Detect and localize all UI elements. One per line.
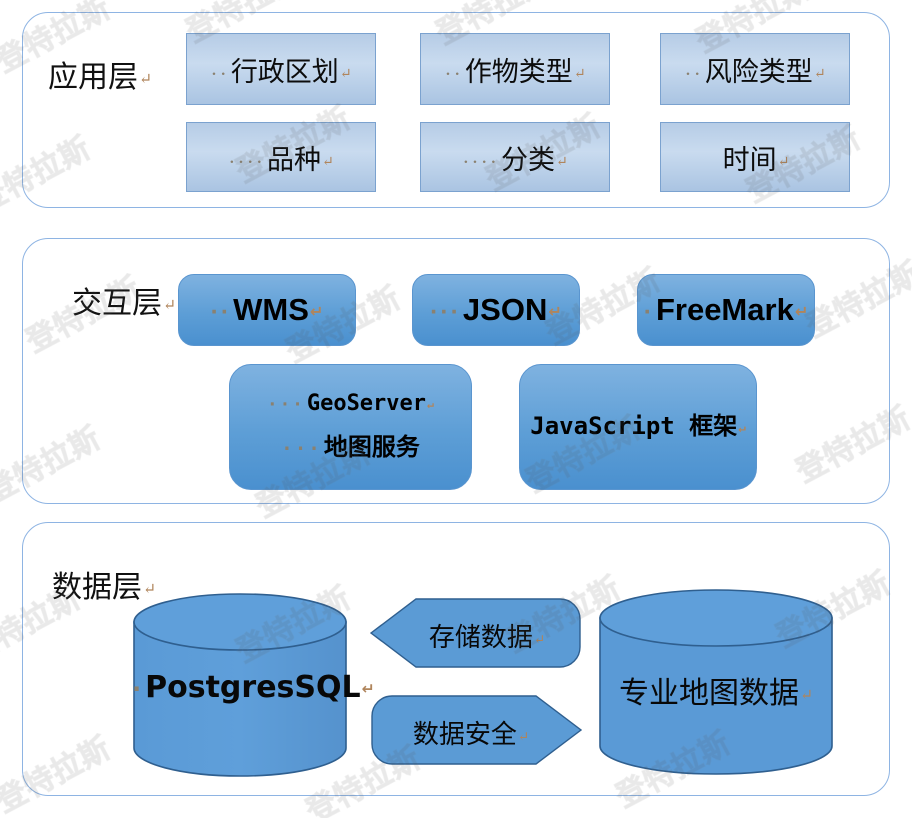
- arrow-data-security[interactable]: 数据安全↵: [370, 694, 582, 766]
- service-line: ···GeoServer↵: [267, 383, 434, 425]
- app-item-label: ····分类↵: [462, 138, 568, 177]
- app-item-administrative-division[interactable]: ··行政区划↵: [186, 33, 376, 105]
- service-geoserver-map-service[interactable]: ···GeoServer↵ ···地图服务: [229, 364, 472, 490]
- app-item-text: 时间: [723, 145, 777, 175]
- pilcrow-mark: ↵: [534, 632, 545, 647]
- app-item-text: 分类: [501, 145, 555, 175]
- app-item-label: ··风险类型↵: [684, 50, 825, 89]
- pilcrow-mark: ↵: [322, 154, 334, 170]
- architecture-diagram: 登特拉斯 登特拉斯 登特拉斯 登特拉斯 登特拉斯 登特拉斯 登特拉斯 登特拉斯 …: [0, 0, 912, 818]
- datastore-text: 专业地图数据: [619, 677, 799, 710]
- arrow-text: 数据安全: [413, 720, 517, 749]
- app-item-text: 作物类型: [465, 57, 573, 87]
- app-item-label: 时间↵: [721, 138, 790, 177]
- pilcrow-mark: ↵: [800, 687, 813, 704]
- interaction-layer-label: 交互层↵: [72, 278, 176, 322]
- datastore-label: 专业地图数据↵: [598, 668, 834, 712]
- leading-dots: ··: [444, 62, 462, 86]
- pilcrow-mark: ↵: [340, 66, 352, 82]
- service-javascript-framework[interactable]: JavaScript 框架↵: [519, 364, 757, 490]
- leading-dots: ·: [644, 299, 654, 326]
- service-wms[interactable]: ··WMS↵: [178, 274, 356, 346]
- service-text: GeoServer: [307, 391, 426, 416]
- service-json[interactable]: ···JSON↵: [412, 274, 580, 346]
- service-freemark[interactable]: ·FreeMark↵: [637, 274, 815, 346]
- pilcrow-mark: ↵: [814, 66, 826, 82]
- pilcrow-mark: ↵: [556, 154, 568, 170]
- leading-dots: ····: [462, 150, 499, 174]
- datastore-label: ·PostgresSQL↵: [132, 670, 348, 705]
- pilcrow-mark: ↵: [310, 303, 324, 321]
- service-line: ···地图服务: [281, 425, 420, 471]
- service-text: FreeMark: [656, 292, 794, 327]
- leading-dots: ···: [430, 299, 461, 326]
- leading-dots: ···: [281, 437, 322, 460]
- data-layer-label-text: 数据层: [52, 571, 142, 604]
- service-line: JavaScript 框架↵: [530, 404, 745, 450]
- pilcrow-mark: ↵: [778, 154, 790, 170]
- service-label: ·FreeMark↵: [644, 292, 809, 328]
- app-item-text: 风险类型: [705, 57, 813, 87]
- arrow-label: 数据安全↵: [360, 714, 582, 751]
- app-item-label: ··行政区划↵: [210, 50, 351, 89]
- service-text: 地图服务: [324, 433, 420, 461]
- leading-dots: ···: [267, 395, 305, 415]
- service-text: JSON: [463, 292, 547, 327]
- pilcrow-mark: ↵: [427, 397, 434, 411]
- pilcrow-mark: ↵: [518, 729, 529, 744]
- leading-dots: ····: [228, 150, 265, 174]
- datastore-postgressql[interactable]: ·PostgresSQL↵: [132, 592, 348, 778]
- interaction-layer-label-text: 交互层: [72, 287, 162, 320]
- datastore-text: PostgresSQL: [145, 670, 361, 705]
- service-label: ··WMS↵: [211, 292, 324, 328]
- leading-dots: ··: [211, 299, 232, 326]
- leading-dots: ·: [132, 675, 143, 703]
- app-item-category[interactable]: ····分类↵: [420, 122, 610, 192]
- datastore-professional-map-data[interactable]: 专业地图数据↵: [598, 588, 834, 778]
- pilcrow-mark: ↵: [574, 66, 586, 82]
- pilcrow-mark: ↵: [139, 71, 152, 88]
- pilcrow-mark: ↵: [548, 303, 562, 321]
- leading-dots: ··: [684, 62, 702, 86]
- app-item-text: 行政区划: [231, 57, 339, 87]
- app-item-label: ··作物类型↵: [444, 50, 585, 89]
- app-item-crop-type[interactable]: ··作物类型↵: [420, 33, 610, 105]
- app-item-time[interactable]: 时间↵: [660, 122, 850, 192]
- pilcrow-mark: ↵: [738, 420, 746, 435]
- service-text: WMS: [233, 292, 309, 327]
- arrow-text: 存储数据: [429, 623, 533, 652]
- pilcrow-mark: ↵: [163, 297, 176, 314]
- application-layer-label-text: 应用层: [48, 61, 138, 94]
- pilcrow-mark: ↵: [795, 303, 809, 321]
- service-text: JavaScript 框架: [530, 412, 737, 440]
- arrow-label: 存储数据↵: [392, 617, 582, 654]
- app-item-variety[interactable]: ····品种↵: [186, 122, 376, 192]
- application-layer-label: 应用层↵: [48, 52, 152, 96]
- service-label: ···JSON↵: [430, 292, 562, 328]
- app-item-risk-type[interactable]: ··风险类型↵: [660, 33, 850, 105]
- app-item-label: ····品种↵: [228, 138, 334, 177]
- app-item-text: 品种: [267, 145, 321, 175]
- leading-dots: ··: [210, 62, 228, 86]
- arrow-store-data[interactable]: 存储数据↵: [370, 597, 582, 669]
